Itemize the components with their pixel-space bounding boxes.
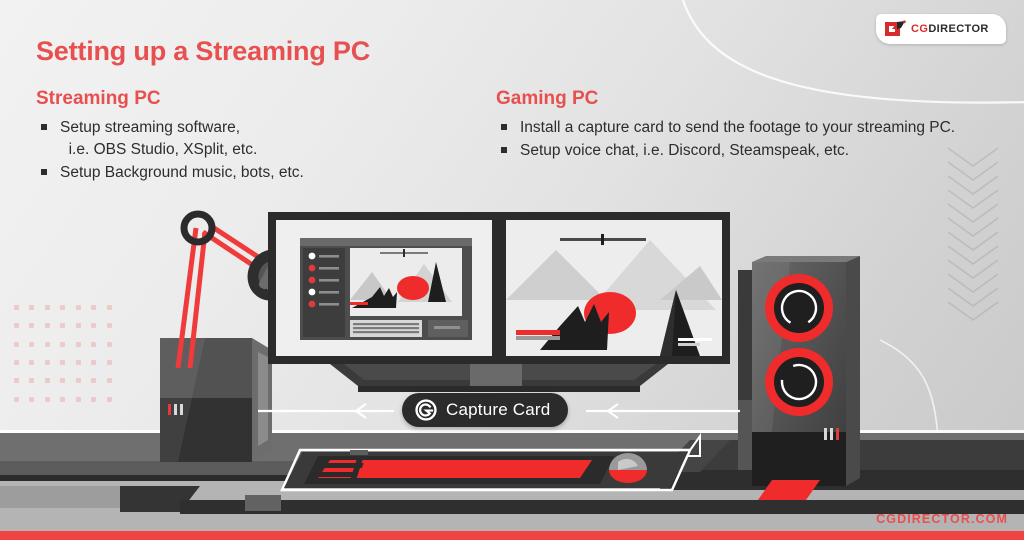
monitor-stand	[330, 364, 668, 392]
game-scene-red-sun	[506, 220, 722, 356]
streaming-software-ui	[300, 238, 472, 340]
infographic-canvas: Setting up a Streaming PC Streaming PC S…	[0, 0, 1024, 540]
watermark: CGDIRECTOR.COM	[876, 512, 1008, 526]
streaming-pc-tower	[160, 338, 272, 462]
streaming-setup-illustration	[0, 0, 1024, 540]
gaming-monitor	[498, 212, 730, 364]
tower-leds-right	[824, 428, 839, 440]
tower-leds	[168, 404, 183, 415]
rgb-fan-top	[765, 274, 833, 342]
elgato-icon	[415, 399, 437, 421]
capture-card-badge[interactable]: Capture Card	[402, 393, 568, 427]
rgb-fan-bottom	[765, 348, 833, 416]
capture-card-label: Capture Card	[446, 400, 550, 420]
gaming-pc-tower	[738, 256, 860, 500]
streaming-monitor	[268, 212, 500, 364]
